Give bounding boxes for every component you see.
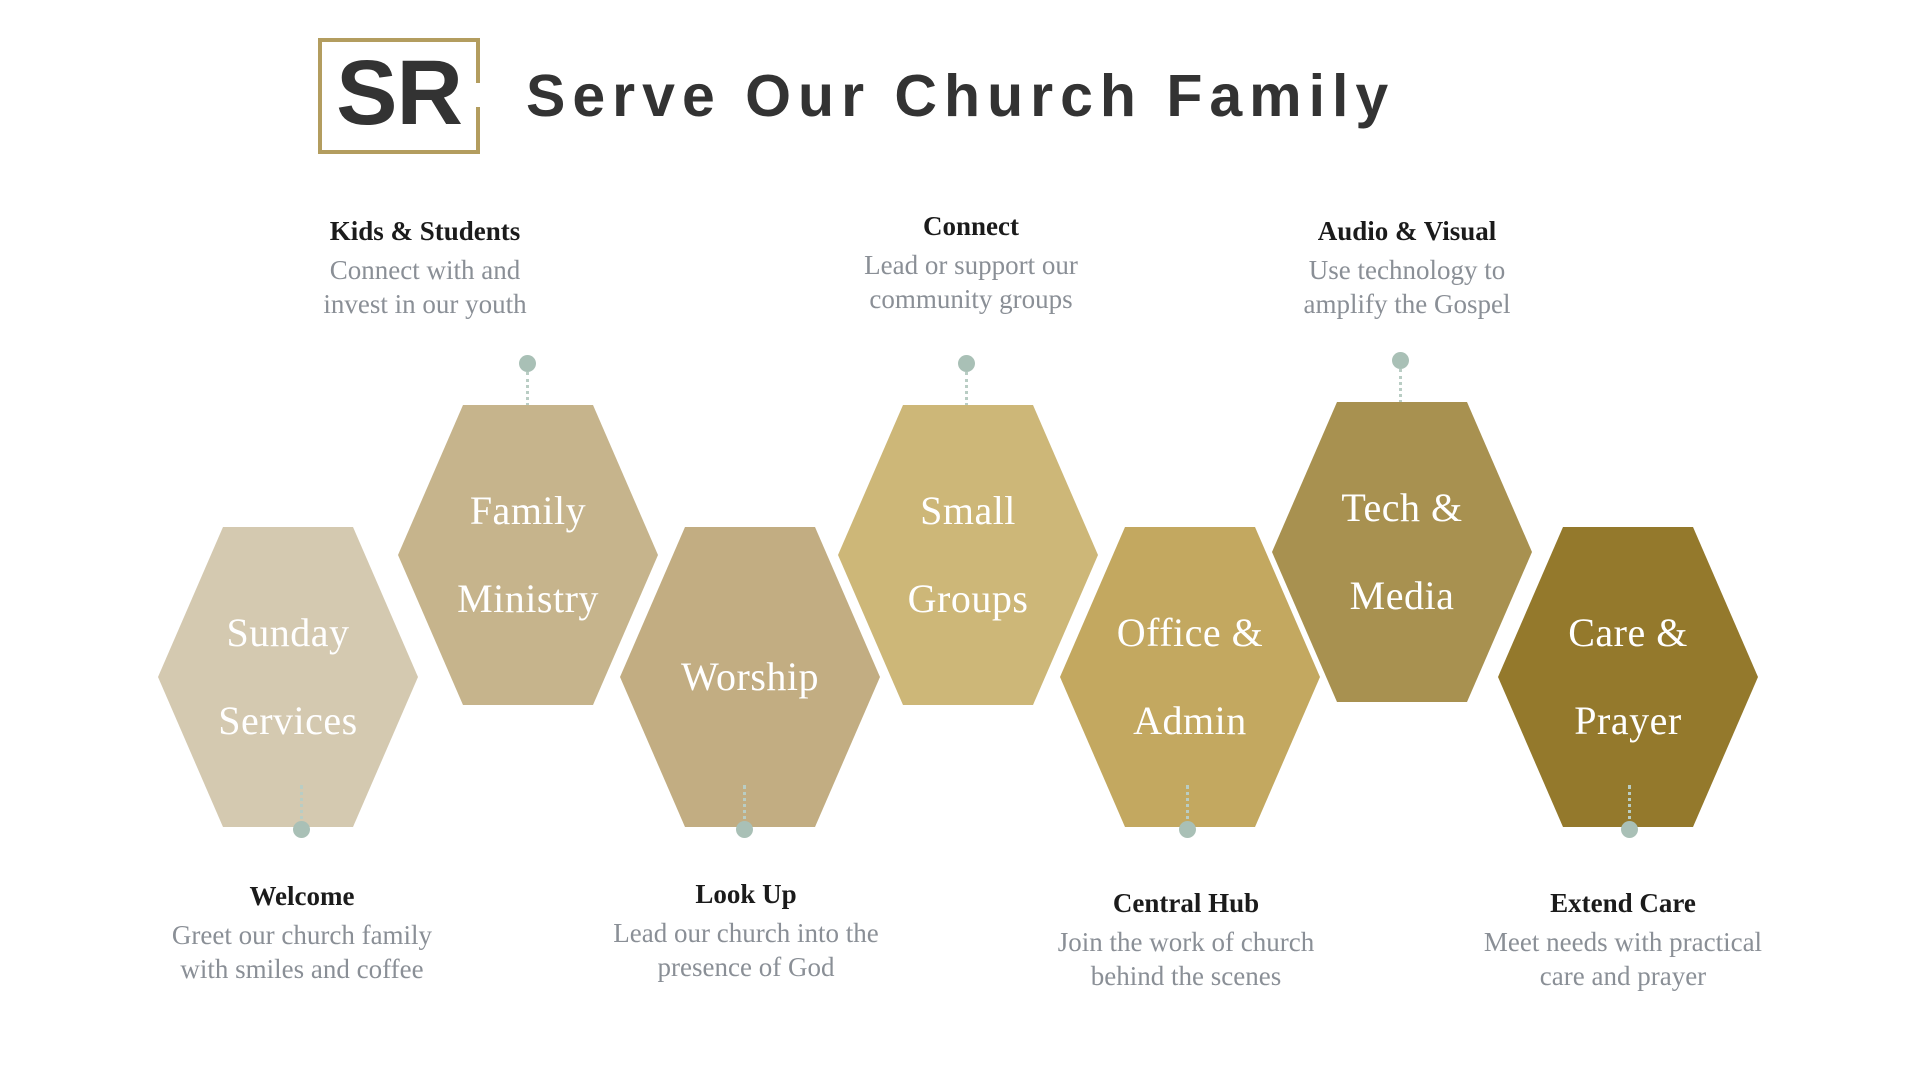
hexagon-flow-diagram: Kids & Students Connect with and invest … xyxy=(0,0,1920,1080)
connector-stem-kids-students xyxy=(526,372,532,406)
hexagon-label-line1: Office & xyxy=(1103,611,1278,655)
hexagon-label: SundayServices xyxy=(190,611,386,743)
callout-kids-students: Kids & Students Connect with and invest … xyxy=(260,215,590,321)
hexagon-sunday-services[interactable]: SundayServices xyxy=(158,527,418,827)
callout-title: Audio & Visual xyxy=(1242,215,1572,249)
hexagon-label: SmallGroups xyxy=(880,489,1057,621)
hexagon-label: Office &Admin xyxy=(1089,611,1292,743)
hexagon-small-groups[interactable]: SmallGroups xyxy=(838,405,1098,705)
callout-desc-line2: community groups xyxy=(806,282,1136,316)
callout-title: Look Up xyxy=(566,878,926,912)
hexagon-label-line1: Tech & xyxy=(1327,486,1476,530)
hexagon-label-line2: Services xyxy=(204,699,372,743)
connector-stem-connect xyxy=(965,372,971,406)
callout-desc-line1: Join the work of church xyxy=(1006,925,1366,959)
hexagon-family-ministry[interactable]: FamilyMinistry xyxy=(398,405,658,705)
hexagon-label-line2: Prayer xyxy=(1554,699,1702,743)
callout-desc-line1: Lead our church into the xyxy=(566,916,926,950)
hexagon-label-line2: Groups xyxy=(894,577,1043,621)
callout-desc-line1: Meet needs with practical xyxy=(1443,925,1803,959)
callout-desc-line1: Use technology to xyxy=(1242,253,1572,287)
callout-desc-line2: invest in our youth xyxy=(260,287,590,321)
callout-look-up: Look Up Lead our church into the presenc… xyxy=(566,878,926,984)
connector-dot-audio-visual xyxy=(1392,352,1409,369)
connector-dot-connect xyxy=(958,355,975,372)
callout-desc-line1: Lead or support our xyxy=(806,248,1136,282)
hexagon-label: Worship xyxy=(653,655,847,699)
callout-title: Kids & Students xyxy=(260,215,590,249)
callout-desc-line2: care and prayer xyxy=(1443,959,1803,993)
callout-title: Central Hub xyxy=(1006,887,1366,921)
hexagon-label-line1: Family xyxy=(443,489,613,533)
connector-dot-welcome xyxy=(293,821,310,838)
callout-title: Connect xyxy=(806,210,1136,244)
hexagon-care-prayer[interactable]: Care &Prayer xyxy=(1498,527,1758,827)
hexagon-label: Care &Prayer xyxy=(1540,611,1716,743)
connector-dot-kids-students xyxy=(519,355,536,372)
connector-stem-audio-visual xyxy=(1399,369,1405,403)
callout-desc-line2: with smiles and coffee xyxy=(132,952,472,986)
hexagon-label: Tech &Media xyxy=(1313,486,1490,618)
connector-dot-central-hub xyxy=(1179,821,1196,838)
callout-welcome: Welcome Greet our church family with smi… xyxy=(132,880,472,986)
callout-desc-line1: Connect with and xyxy=(260,253,590,287)
callout-desc-line1: Greet our church family xyxy=(132,918,472,952)
connector-dot-extend-care xyxy=(1621,821,1638,838)
callout-extend-care: Extend Care Meet needs with practical ca… xyxy=(1443,887,1803,993)
hexagon-label: FamilyMinistry xyxy=(429,489,627,621)
callout-title: Extend Care xyxy=(1443,887,1803,921)
hexagon-label-line2: Ministry xyxy=(443,577,613,621)
callout-audio-visual: Audio & Visual Use technology to amplify… xyxy=(1242,215,1572,321)
callout-desc-line2: behind the scenes xyxy=(1006,959,1366,993)
hexagon-label-line1: Sunday xyxy=(204,611,372,655)
hexagon-worship[interactable]: Worship xyxy=(620,527,880,827)
hexagon-label-line1: Small xyxy=(894,489,1043,533)
hexagon-label-line1: Worship xyxy=(667,655,833,699)
hexagon-label-line1: Care & xyxy=(1554,611,1702,655)
callout-title: Welcome xyxy=(132,880,472,914)
hexagon-label-line2: Media xyxy=(1327,574,1476,618)
callout-desc-line2: amplify the Gospel xyxy=(1242,287,1572,321)
callout-connect: Connect Lead or support our community gr… xyxy=(806,210,1136,316)
callout-desc-line2: presence of God xyxy=(566,950,926,984)
callout-central-hub: Central Hub Join the work of church behi… xyxy=(1006,887,1366,993)
hexagon-label-line2: Admin xyxy=(1103,699,1278,743)
connector-dot-look-up xyxy=(736,821,753,838)
